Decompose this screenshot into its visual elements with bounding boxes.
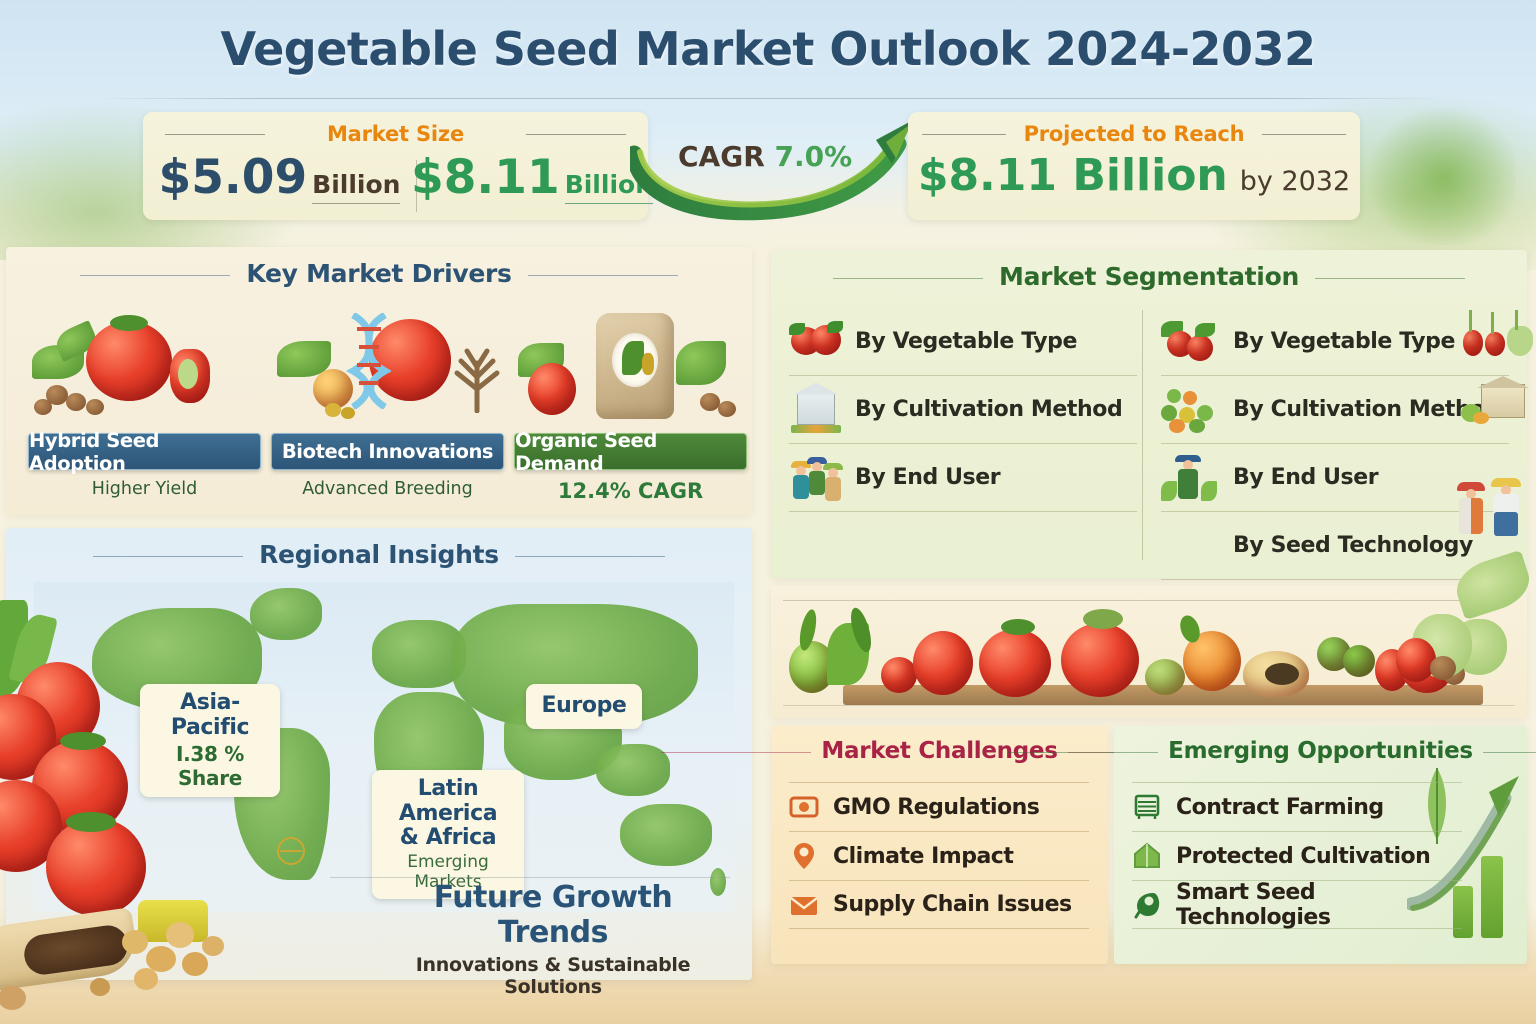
greenhouse-barn-icon [1459,378,1536,426]
segmentation-item[interactable]: By End User [789,444,1137,512]
radish-sprouts-icon [1459,310,1536,358]
tomatoes-vine-icon [1161,317,1221,367]
opportunity-label: Contract Farming [1176,795,1384,820]
challenges-heading: Market Challenges [771,738,1108,764]
segmentation-label: By Cultivation Method [855,397,1122,422]
greenhouse-icon [789,385,843,435]
challenge-row[interactable]: Supply Chain Issues [789,880,1089,929]
page-title: Vegetable Seed Market Outlook 2024-2032 [0,22,1536,76]
segmentation-column-divider [1142,310,1143,560]
vegetable-pile-icon [1161,385,1221,435]
document-stack-icon [1132,792,1162,822]
opportunity-row[interactable]: Protected Cultivation [1132,831,1462,880]
location-pin-icon [789,841,819,871]
driver-chip-label: Organic Seed Demand [514,433,747,470]
opportunity-row[interactable]: Contract Farming [1132,782,1462,831]
sprout-chip-icon [1132,890,1162,920]
segmentation-label: By Vegetable Type [855,329,1077,354]
title-divider [96,98,1440,99]
segmentation-item[interactable]: By Seed Technology [1161,512,1509,580]
challenge-row[interactable]: GMO Regulations [789,782,1089,831]
seed-sack-icon [514,307,747,427]
driver-subtitle: 12.4% CAGR [514,479,747,503]
projection-value: $8.11 Billion [918,154,1228,198]
landmass-australia [620,804,712,866]
infographic-canvas: Vegetable Seed Market Outlook 2024-2032 … [0,0,1536,1024]
certificate-icon [789,792,819,822]
cagr-callout: CAGR 7.0% [630,118,930,223]
future-growth-title: Future Growth Trends [378,880,728,950]
market-size-values: $5.09 Billion $8.11 Billion [143,154,648,204]
challenge-label: Supply Chain Issues [833,892,1072,917]
future-growth-block: Future Growth Trends Innovations & Susta… [378,880,728,998]
challenge-label: GMO Regulations [833,795,1039,820]
challenges-list: GMO Regulations Climate Impact [789,782,1089,929]
map-tag-title: Asia-Pacific [154,691,266,740]
driver-card[interactable]: Biotech Innovations Advanced Breeding [271,307,504,499]
driver-chip-label: Biotech Innovations [271,433,504,470]
map-marker-icon [274,834,308,868]
world-map: Asia-Pacific I.38 % Share Europe Latin A… [34,582,734,912]
greenhouse-tent-icon [1132,841,1162,871]
plant-illustration-right [1356,95,1516,245]
tomatoes-icon [789,317,843,367]
projection-values: $8.11 Billion by 2032 [908,154,1360,198]
envelope-icon [789,890,819,920]
vegetable-row [783,600,1515,706]
farmer-icon [1161,453,1221,503]
market-size-current-value: $5.09 [159,154,308,201]
dna-helix-glyph [345,313,391,409]
driver-chip-label: Hybrid Seed Adoption [28,433,261,470]
farmers-group-icon [789,453,843,503]
projection-heading: Projected to Reach [908,122,1360,146]
segmentation-label: By Seed Technology [1233,533,1473,558]
dna-helix-icon [271,307,504,427]
dried-herb-icon [451,343,503,413]
vegetable-photo-band [771,586,1527,718]
opportunities-list: Contract Farming Protected Cultivation [1132,782,1462,929]
cagr-text: CAGR 7.0% [678,140,852,173]
map-tag-title: Latin America [386,777,510,826]
challenge-row[interactable]: Climate Impact [789,831,1089,880]
map-tag-share: I.38 % Share [154,742,266,790]
driver-subtitle: Higher Yield [28,479,261,499]
market-size-current-unit: Billion [312,170,400,199]
segmentation-item[interactable]: By Cultivation Method [789,376,1137,444]
segmentation-left-column: By Vegetable Type By Cultivation Method … [789,308,1137,512]
segmentation-heading: Market Segmentation [771,262,1527,291]
map-tag-asia-pacific[interactable]: Asia-Pacific I.38 % Share [140,684,280,797]
segmentation-right-column: By Vegetable Type [1161,308,1509,580]
driver-card[interactable]: Hybrid Seed Adoption Higher Yield [28,307,261,499]
emerging-opportunities-panel: Emerging Opportunities [1114,726,1527,964]
opportunity-row[interactable]: Smart Seed Technologies [1132,880,1462,929]
farmers-pair-art [1447,476,1536,562]
segmentation-item[interactable]: By Cultivation Method [1161,376,1509,444]
cagr-label: CAGR [678,140,765,173]
farmers-pair-icon [1161,521,1221,571]
opportunity-label: Smart Seed Technologies [1176,880,1462,930]
map-tag-title: Europe [538,694,630,719]
market-challenges-panel: Market Challenges GMO Regulations [771,726,1108,964]
segmentation-label: By Vegetable Type [1233,329,1455,354]
segmentation-item[interactable]: By Vegetable Type [789,308,1137,376]
market-size-future-value: $8.11 [411,154,560,201]
key-market-drivers-panel: Key Market Drivers Hybrid Seed Adoption … [6,247,752,515]
growth-divider [330,877,730,878]
map-tag-title-2: & Africa [386,826,510,851]
segmentation-item[interactable]: By Vegetable Type [1161,308,1509,376]
projection-year: by 2032 [1240,166,1350,197]
segmentation-label: By End User [855,465,1000,490]
market-size-heading: Market Size [143,122,648,146]
opportunity-label: Protected Cultivation [1176,844,1430,869]
segmentation-label: By End User [1233,465,1378,490]
unit-underline [312,203,400,204]
market-segmentation-panel: Market Segmentation By Vegetable Type By… [771,250,1527,578]
cagr-value: 7.0% [775,140,853,173]
future-growth-subtitle: Innovations & Sustainable Solutions [378,954,728,998]
regional-heading: Regional Insights [6,540,752,569]
driver-card[interactable]: Organic Seed Demand 12.4% CAGR [514,307,747,503]
projection-card: Projected to Reach $8.11 Billion by 2032 [908,112,1360,220]
landmass-greenland [250,588,322,640]
map-tag-europe[interactable]: Europe [526,684,642,729]
market-size-card: Market Size $5.09 Billion $8.11 Billion [143,112,648,220]
tomato-seeds-icon [28,307,261,427]
drivers-heading: Key Market Drivers [6,259,752,288]
driver-subtitle: Advanced Breeding [271,479,504,499]
challenge-label: Climate Impact [833,844,1013,869]
landmass-southeast-asia [596,744,670,796]
